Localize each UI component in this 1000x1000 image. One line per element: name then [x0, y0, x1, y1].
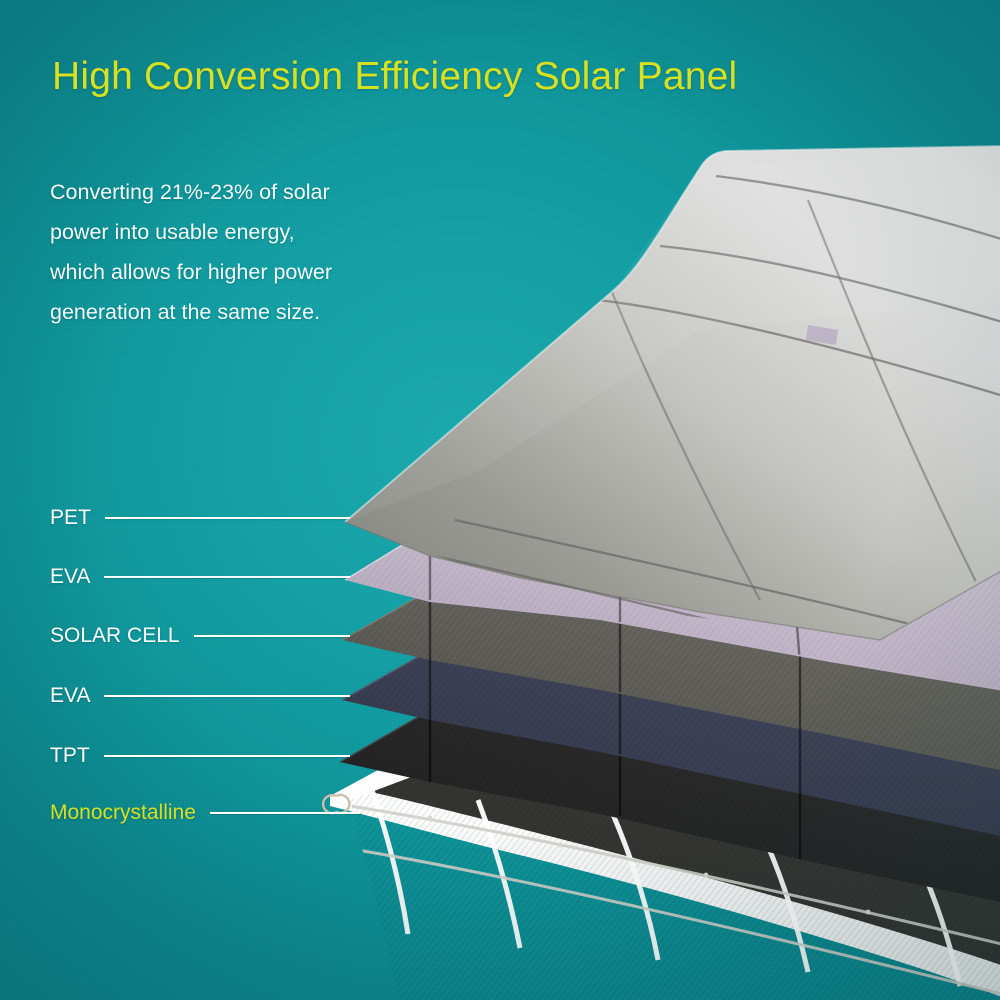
layer-callout-list: PET EVA SOLAR CELL EVA TPT Monocrystalli… [0, 0, 1000, 1000]
layer-label-solar-cell: SOLAR CELL [50, 624, 180, 648]
layer-label-pet: PET [50, 506, 91, 530]
layer-callout-solar-cell: SOLAR CELL [50, 621, 350, 651]
layer-label-eva-lower: EVA [50, 684, 90, 708]
leader-line-tpt [104, 755, 350, 757]
layer-callout-tpt: TPT [50, 741, 350, 771]
leader-line-monocrystalline [210, 812, 360, 814]
layer-label-tpt: TPT [50, 744, 90, 768]
leader-line-eva-lower [104, 695, 350, 697]
layer-callout-eva-lower: EVA [50, 681, 350, 711]
layer-callout-pet: PET [50, 503, 350, 533]
layer-label-monocrystalline: Monocrystalline [50, 801, 196, 825]
infographic-canvas: High Conversion Efficiency Solar Panel C… [0, 0, 1000, 1000]
leader-line-eva-upper [104, 576, 350, 578]
leader-line-solar-cell [194, 635, 350, 637]
layer-label-eva-upper: EVA [50, 565, 90, 589]
layer-callout-eva-upper: EVA [50, 562, 350, 592]
leader-line-pet [105, 517, 350, 519]
layer-callout-monocrystalline: Monocrystalline [50, 798, 360, 828]
